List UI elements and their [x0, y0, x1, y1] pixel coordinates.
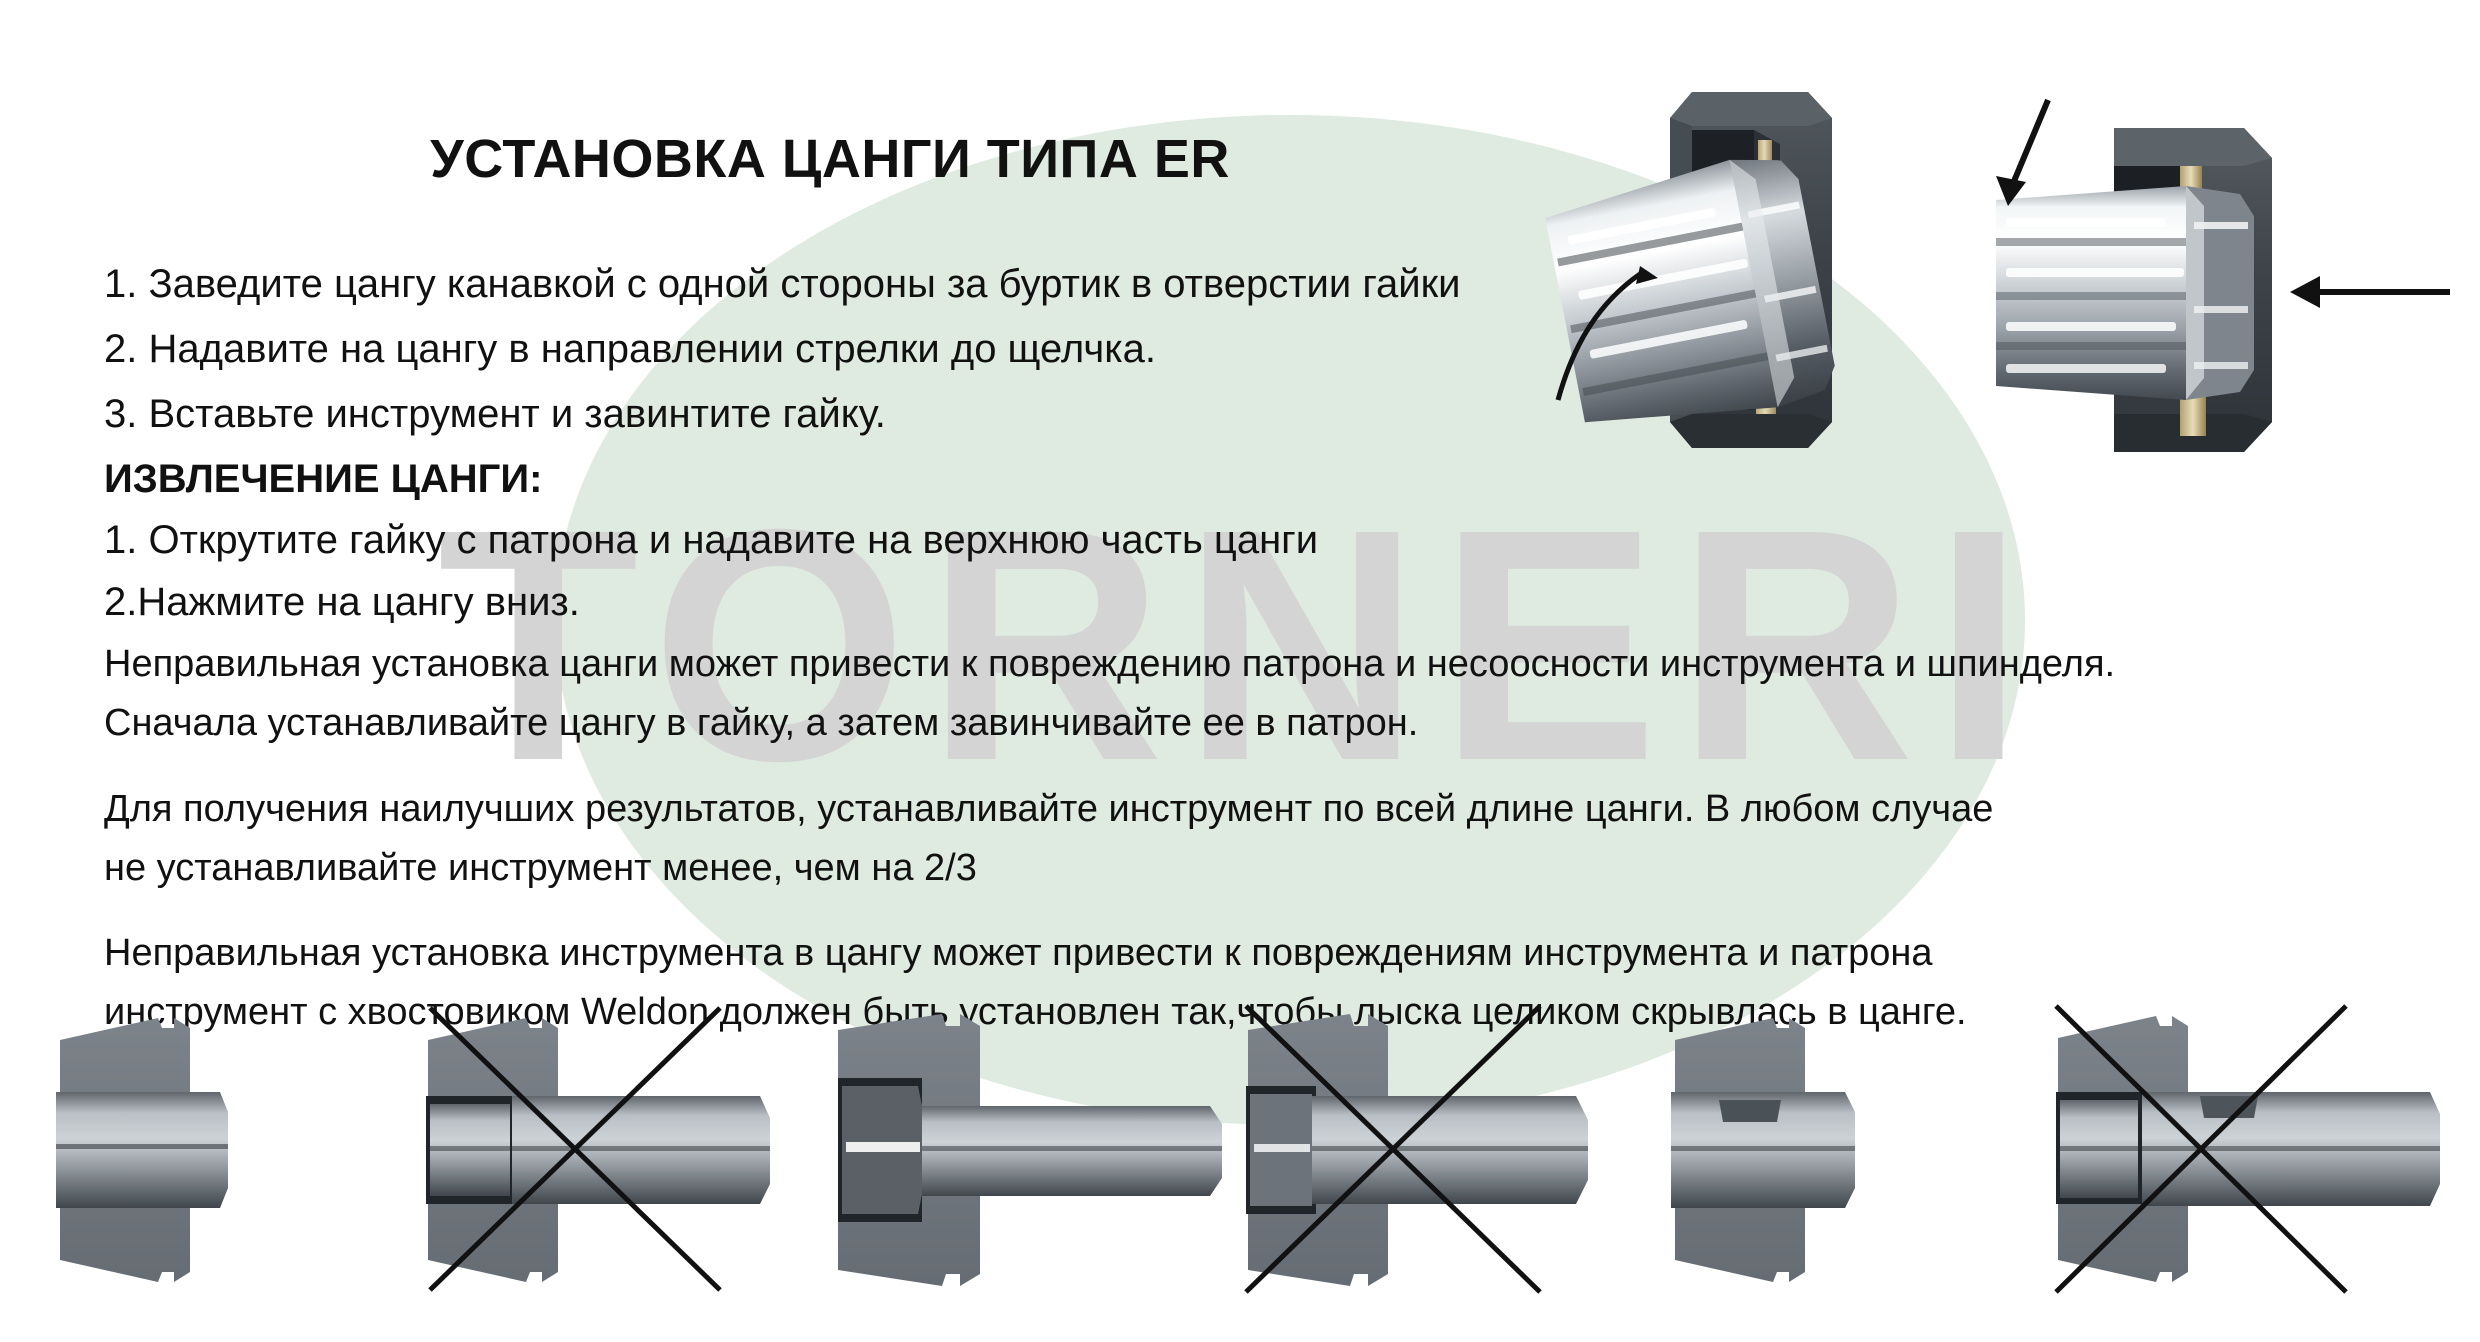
install-step-3: 3. Вставьте инструмент и завинтите гайку…	[104, 392, 886, 437]
warning-1-line-1: Неправильная установка цанги может приве…	[104, 643, 2115, 686]
bottom-figure-2	[420, 1000, 820, 1300]
install-step-2: 2. Надавите на цангу в направлении стрел…	[104, 327, 1156, 372]
arrow-diagonal-icon	[1996, 100, 2048, 206]
install-step-1: 1. Заведите цангу канавкой с одной сторо…	[104, 262, 1460, 307]
page-title: УСТАНОВКА ЦАНГИ ТИПА ER	[0, 128, 1660, 190]
removal-heading: ИЗВЛЕЧЕНИЕ ЦАНГИ:	[104, 457, 542, 502]
warning-2-line-2: не устанавливайте инструмент менее, чем …	[104, 847, 977, 890]
warning-2-line-1: Для получения наилучших результатов, уст…	[104, 788, 1993, 831]
bottom-figure-3	[830, 1000, 1230, 1300]
removal-step-2: 2.Нажмите на цангу вниз.	[104, 580, 580, 625]
collet-tilted	[1541, 148, 1840, 444]
warning-1-line-2: Сначала устанавливайте цангу в гайку, а …	[104, 702, 1418, 745]
warning-3-line-1: Неправильная установка инструмента в цан…	[104, 932, 1933, 975]
bottom-figure-6	[2050, 1000, 2470, 1300]
figure-collet-tilted-into-nut	[1540, 70, 1960, 520]
arrow-horizontal-icon	[2290, 276, 2450, 308]
diagram-content: УСТАНОВКА ЦАНГИ ТИПА ER 1. Заведите цанг…	[0, 0, 2480, 1342]
bottom-figure-4	[1240, 1000, 1640, 1300]
bottom-figure-5	[1665, 1000, 2045, 1300]
removal-step-1: 1. Открутите гайку с патрона и надавите …	[104, 518, 1318, 563]
bottom-figure-1	[50, 1000, 410, 1300]
collet-seated	[1996, 186, 2254, 400]
figure-collet-seated-in-nut	[1990, 70, 2460, 520]
